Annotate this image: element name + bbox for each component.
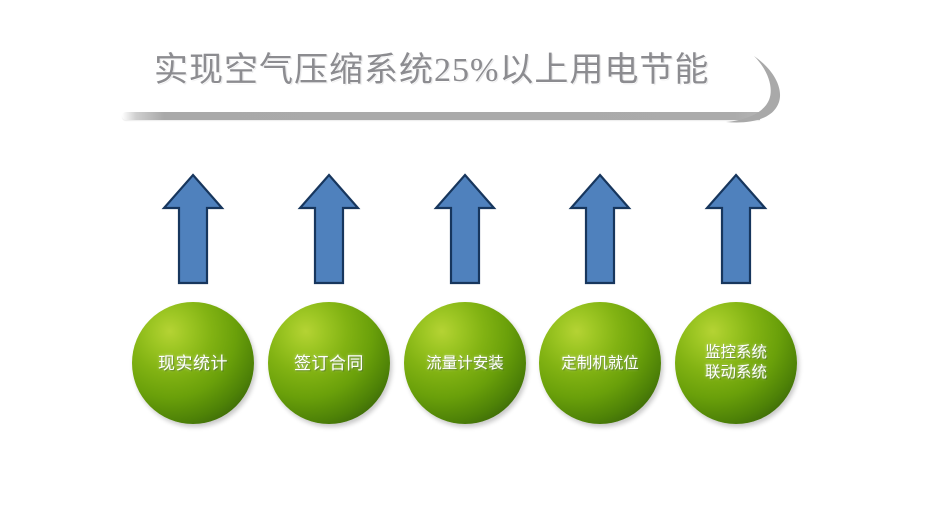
up-arrow-icon (433, 172, 497, 286)
step-label-4: 定制机就位 (561, 353, 639, 374)
step-item-4[interactable]: 定制机就位 (534, 170, 666, 428)
step-item-2[interactable]: 签订合同 (263, 170, 395, 428)
step-circle-1[interactable]: 现实统计 (132, 302, 254, 424)
up-arrow-icon (161, 172, 225, 286)
step-item-1[interactable]: 现实统计 (127, 170, 259, 428)
step-label-2: 签订合同 (294, 353, 364, 374)
step-item-5[interactable]: 监控系统 联动系统 (670, 170, 802, 428)
step-label-1: 现实统计 (158, 353, 228, 374)
slide-canvas: 实现空气压缩系统25%以上用电节能 现实统计 签订合同 (0, 0, 945, 529)
step-item-3[interactable]: 流量计安装 (399, 170, 531, 428)
up-arrow-icon (297, 172, 361, 286)
step-label-3: 流量计安装 (426, 353, 504, 374)
step-circle-4[interactable]: 定制机就位 (539, 302, 661, 424)
steps-row: 现实统计 签订合同 流量计安装 定 (0, 0, 945, 529)
step-circle-3[interactable]: 流量计安装 (404, 302, 526, 424)
step-circle-2[interactable]: 签订合同 (268, 302, 390, 424)
up-arrow-icon (704, 172, 768, 286)
step-label-5: 监控系统 联动系统 (705, 343, 767, 383)
step-circle-5[interactable]: 监控系统 联动系统 (675, 302, 797, 424)
up-arrow-icon (568, 172, 632, 286)
